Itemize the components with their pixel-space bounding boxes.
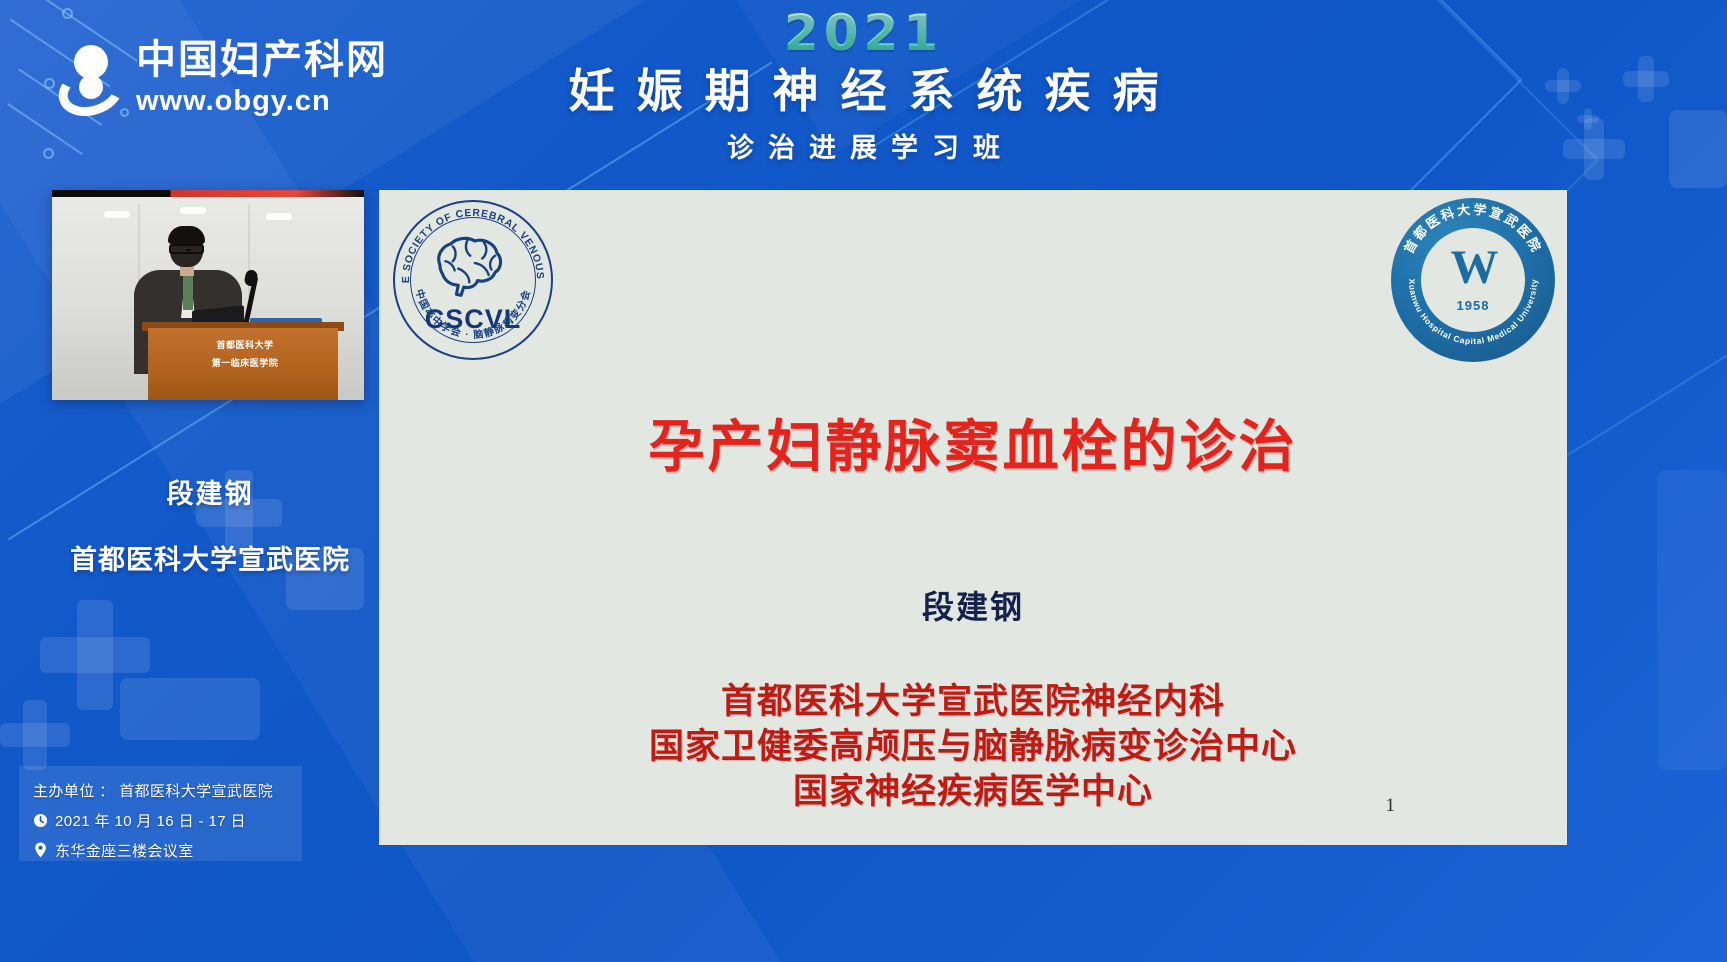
slide-page-number: 1 (1386, 795, 1396, 817)
speaker-name: 段建钢 (0, 472, 420, 511)
slide-title: 孕产妇静脉窦血栓的诊治 (379, 402, 1567, 483)
bg-cross-icon (0, 700, 70, 770)
event-info-panel: 主办单位 ： 首都医科大学宣武医院 2021 年 10 月 16 日 - 17 … (19, 766, 302, 861)
xuanwu-hospital-seal: 首都医科大学宣武医院 Xuanwu Hospital Capital Medic… (1391, 198, 1555, 362)
svg-text:CHINESE SOCIETY OF CEREBRAL VE: CHINESE SOCIETY OF CEREBRAL VENOUS LESIO… (393, 200, 545, 283)
slide-author: 段建钢 (379, 582, 1567, 628)
bg-cross-icon (40, 600, 150, 710)
slide-area[interactable]: CSCVL CHINESE SOCIETY OF CEREBRAL VENOUS… (379, 190, 1567, 845)
cscvl-seal: CSCVL CHINESE SOCIETY OF CEREBRAL VENOUS… (393, 200, 553, 360)
affiliation-line-2: 国家卫健委高颅压与脑静脉病变诊治中心 (379, 725, 1567, 770)
info-row-venue: 东华金座三楼会议室 (33, 835, 288, 865)
xuanwu-founding-year: 1958 (1391, 298, 1555, 313)
video-top-bar (52, 190, 364, 197)
svg-text:中国卒中学会 · 脑静脉病变分会: 中国卒中学会 · 脑静脉病变分会 (413, 288, 534, 342)
event-year: 2021 (0, 8, 1727, 58)
cscvl-seal-text: CHINESE SOCIETY OF CEREBRAL VENOUS LESIO… (393, 200, 553, 360)
xuanwu-monogram: W (1451, 244, 1496, 292)
speaker-organization: 首都医科大学宣武医院 (0, 538, 420, 577)
info-row-organizer: 主办单位 ： 首都医科大学宣武医院 (33, 775, 288, 805)
podium-text-line1: 首都医科大学 (170, 338, 320, 351)
location-pin-icon (33, 842, 55, 858)
event-title-block: 2021 妊娠期神经系统疾病 诊治进展学习班 (0, 8, 1727, 165)
affiliation-line-1: 首都医科大学宣武医院神经内科 (379, 680, 1567, 725)
speaker-video[interactable]: 首都医科大学 第一临床医学院 (52, 190, 364, 400)
event-subtitle: 诊治进展学习班 (0, 126, 1727, 165)
event-title: 妊娠期神经系统疾病 (0, 66, 1727, 117)
organizer-text: 主办单位 ： 首都医科大学宣武医院 (33, 780, 273, 801)
event-header: 中国妇产科网 www.obgy.cn 2021 妊娠期神经系统疾病 诊治进展学习… (0, 0, 1727, 186)
clock-icon (33, 813, 55, 828)
date-text: 2021 年 10 月 16 日 - 17 日 (55, 810, 246, 831)
presentation-stage: 中国妇产科网 www.obgy.cn 2021 妊娠期神经系统疾病 诊治进展学习… (0, 0, 1727, 962)
podium-text-line2: 第一临床医学院 (170, 356, 320, 369)
bg-square (1657, 470, 1727, 770)
info-row-date: 2021 年 10 月 16 日 - 17 日 (33, 805, 288, 835)
bg-square (120, 678, 260, 740)
venue-text: 东华金座三楼会议室 (55, 840, 194, 861)
glasses-icon (169, 244, 204, 254)
